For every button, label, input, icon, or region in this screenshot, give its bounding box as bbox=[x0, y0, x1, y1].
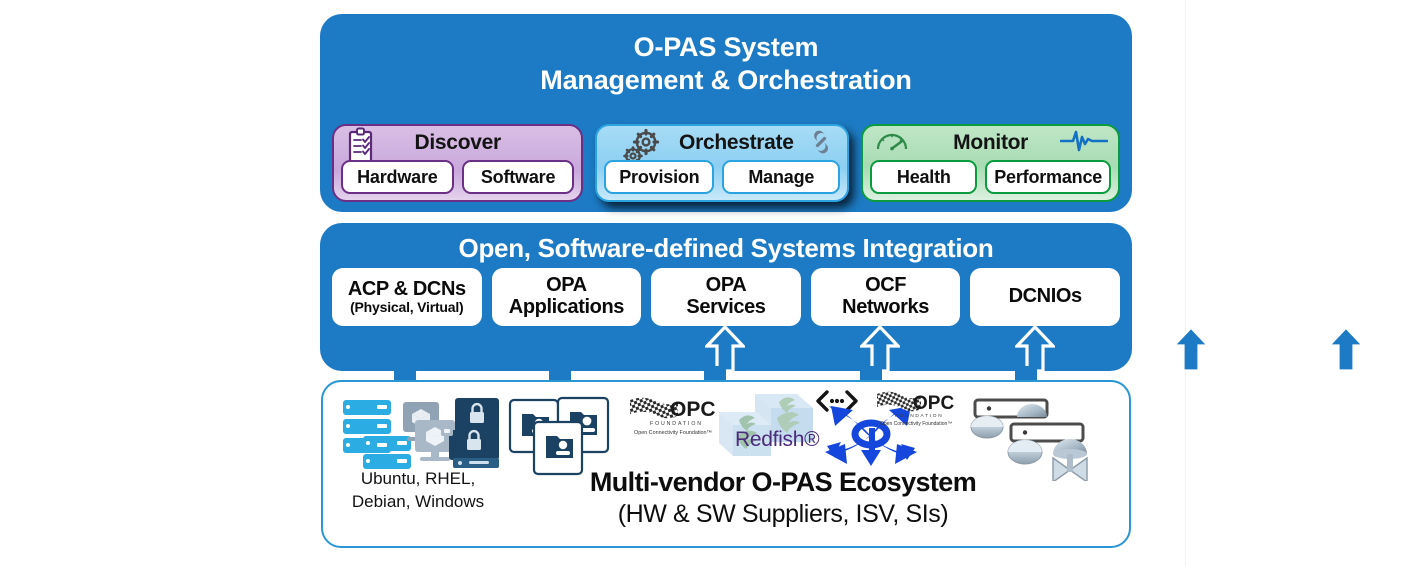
monitor-label: Monitor bbox=[953, 131, 1028, 155]
integration-card-line1: OPA bbox=[706, 275, 747, 297]
management-panel-title: O-PAS System Management & Orchestration bbox=[320, 14, 1132, 97]
integration-card-row: ACP & DCNs (Physical, Virtual) OPA Appli… bbox=[332, 268, 1120, 326]
discover-card[interactable]: Discover Hardware Software bbox=[332, 124, 583, 202]
flow-arrow-4-head bbox=[1171, 326, 1211, 371]
monitor-card[interactable]: Monitor Health Performance bbox=[861, 124, 1120, 202]
integration-card-line2: Applications bbox=[509, 297, 624, 319]
diagram-canvas: O-PAS System Management & Orchestration bbox=[0, 0, 1415, 566]
management-orchestration-panel: O-PAS System Management & Orchestration bbox=[320, 14, 1132, 212]
monitor-subitems: Health Performance bbox=[870, 160, 1111, 194]
integration-card-dcnios[interactable]: DCNIOs bbox=[970, 268, 1120, 326]
integration-card-line1: OPA bbox=[546, 275, 587, 297]
management-title-line1: O-PAS System bbox=[634, 32, 819, 62]
monitor-header: Monitor bbox=[863, 126, 1118, 160]
opc-foundation-logo-secondary: OPC FOUNDATION Open Connectivity Foundat… bbox=[875, 388, 959, 435]
page-divider-line bbox=[1185, 0, 1186, 566]
integration-card-acp-dcns[interactable]: ACP & DCNs (Physical, Virtual) bbox=[332, 268, 482, 326]
ecosystem-panel: OPC FOUNDATION Open Connectivity Foundat… bbox=[321, 380, 1131, 548]
systems-integration-panel: Open, Software-defined Systems Integrati… bbox=[320, 223, 1132, 371]
management-title-line2: Management & Orchestration bbox=[320, 64, 1132, 97]
orchestrate-chip-manage[interactable]: Manage bbox=[722, 160, 840, 194]
integration-card-line1: DCNIOs bbox=[1009, 286, 1082, 308]
gauge-icon bbox=[875, 127, 909, 160]
svg-text:FOUNDATION: FOUNDATION bbox=[895, 413, 943, 419]
ecosystem-title-line1: Multi-vendor O-PAS Ecosystem bbox=[463, 467, 1103, 498]
discover-header: Discover bbox=[334, 126, 581, 160]
orchestrate-chip-provision[interactable]: Provision bbox=[604, 160, 714, 194]
redfish-label: Redfish® bbox=[735, 428, 819, 452]
integration-card-opa-services[interactable]: OPA Services bbox=[651, 268, 801, 326]
svg-text:OPC: OPC bbox=[913, 393, 954, 414]
integration-panel-title: Open, Software-defined Systems Integrati… bbox=[320, 223, 1132, 264]
orchestrate-card[interactable]: Orchestrate Provision Manage bbox=[595, 124, 849, 202]
flow-arrow-3-head bbox=[1015, 326, 1055, 371]
flow-arrow-1-head bbox=[705, 326, 745, 371]
discover-chip-software[interactable]: Software bbox=[462, 160, 575, 194]
ecosystem-title-line2: (HW & SW Suppliers, ISV, SIs) bbox=[463, 500, 1103, 529]
monitor-chip-health[interactable]: Health bbox=[870, 160, 977, 194]
discover-subitems: Hardware Software bbox=[341, 160, 574, 194]
integration-card-line2: Services bbox=[686, 297, 765, 319]
integration-card-line1: ACP & DCNs bbox=[348, 279, 466, 301]
discover-label: Discover bbox=[415, 131, 501, 155]
svg-text:Open Connectivity Foundation™: Open Connectivity Foundation™ bbox=[880, 421, 952, 427]
orchestrate-header: Orchestrate bbox=[597, 126, 847, 160]
flow-arrow-2-head bbox=[860, 326, 900, 371]
orchestrate-label: Orchestrate bbox=[679, 131, 794, 155]
discover-chip-hardware[interactable]: Hardware bbox=[341, 160, 454, 194]
ecosystem-title: Multi-vendor O-PAS Ecosystem (HW & SW Su… bbox=[463, 467, 1103, 529]
integration-card-ocf-networks[interactable]: OCF Networks bbox=[811, 268, 961, 326]
integration-card-line2: (Physical, Virtual) bbox=[350, 300, 463, 315]
monitor-chip-performance[interactable]: Performance bbox=[985, 160, 1111, 194]
flow-arrow-5-head bbox=[1326, 326, 1366, 371]
integration-card-line1: OCF bbox=[865, 275, 906, 297]
orchestrate-subitems: Provision Manage bbox=[604, 160, 840, 194]
management-function-row: Discover Hardware Software bbox=[332, 124, 1120, 202]
chain-link-icon bbox=[805, 126, 837, 163]
integration-card-line2: Networks bbox=[842, 297, 929, 319]
integration-card-opa-applications[interactable]: OPA Applications bbox=[492, 268, 642, 326]
